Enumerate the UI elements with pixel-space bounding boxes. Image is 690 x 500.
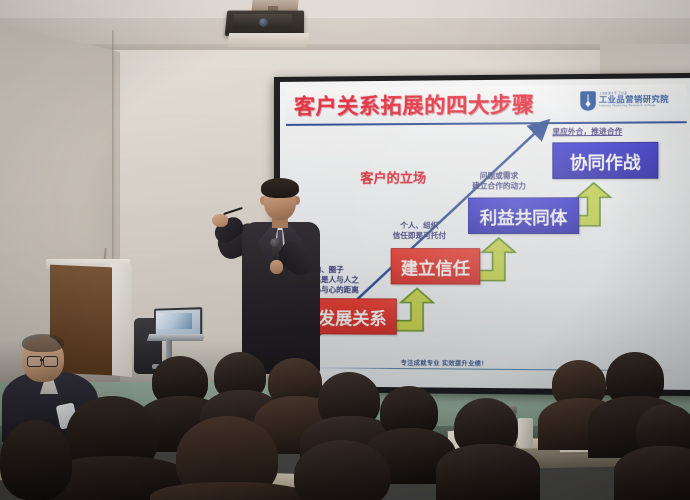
glasses-icon [43,356,58,367]
projector-underside [227,33,309,47]
slide-footer-text: 专注成就专业 实效提升业绩！ [401,358,488,368]
paper-cup-icon [518,418,533,448]
presenter-left-hand [270,260,283,274]
customer-stance-label: 客户的立场 [360,167,426,186]
glasses-icon [27,356,42,367]
anchor-icon [580,91,596,110]
lecture-room-photo: 客户关系拓展的四大步骤 上海交通大学·工业品 工业品营销研究院 Industry… [0,0,690,500]
attendee-shoulders [436,444,540,500]
step-box-3: 利益共同体 [468,197,579,234]
logo-english-name: Industry Marketing Research College [599,104,669,108]
step-arrow-1-icon [393,286,444,333]
note-build-trust: 个人、组织 信任即是可托付 [393,221,446,241]
presenter-hair [261,178,299,198]
attendee-left-hair [22,334,64,352]
step-arrow-2-icon [474,236,525,283]
step-box-2: 建立信任 [391,248,481,285]
microphone-head [270,238,281,247]
note-joint-operation: 里应外合，推进合作 [552,127,622,138]
glasses-bridge [40,359,44,361]
note-common-interest: 问题或需求 建立合作的动力 [472,171,526,192]
institute-logo: 上海交通大学·工业品 工业品营销研究院 Industry Marketing R… [580,86,680,113]
foreground-attendee-head [0,420,72,500]
attendee-shoulders [614,446,690,500]
step-box-4: 协同作战 [552,142,658,179]
laptop-base [147,334,205,341]
pointer-icon [223,207,243,215]
laptop-screen-image [156,313,192,329]
projector-lens-icon [259,18,268,27]
podium-side-panel [110,263,132,377]
presenter-right-hand [212,214,228,227]
